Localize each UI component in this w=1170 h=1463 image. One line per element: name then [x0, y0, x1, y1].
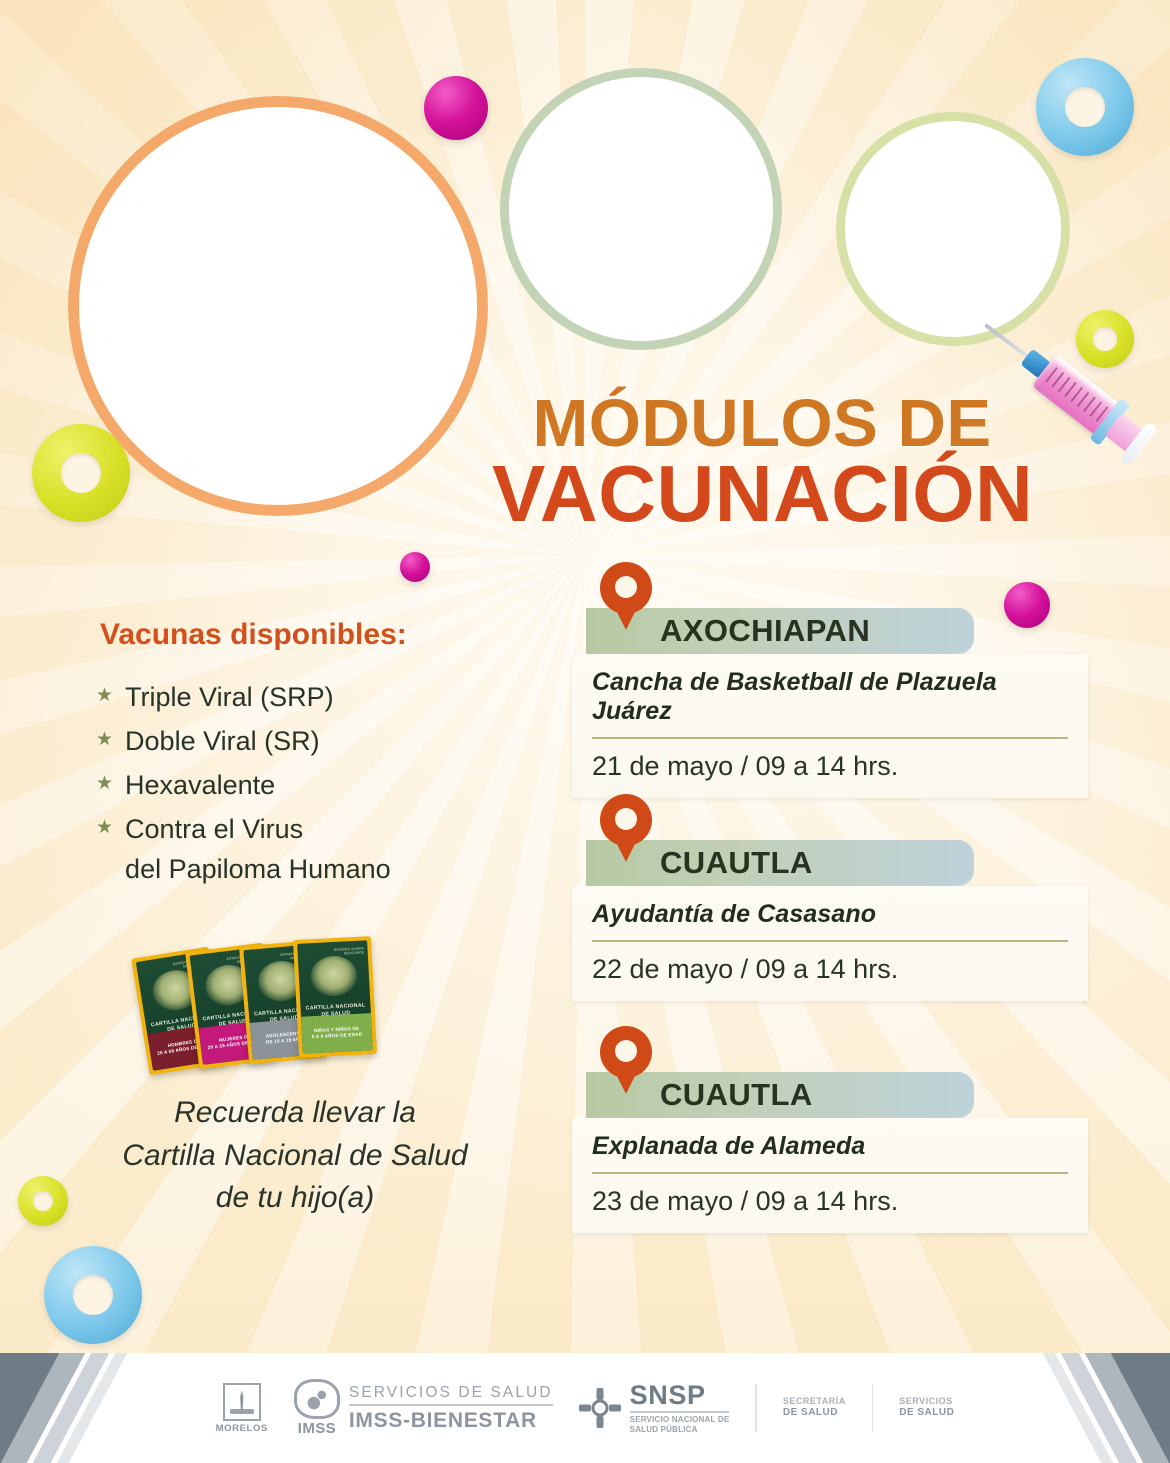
location-header: CUAUTLA [586, 1072, 974, 1118]
location-header: CUAUTLA [586, 840, 974, 886]
photo-infant-ring [68, 96, 488, 516]
map-pin-icon [600, 794, 652, 870]
snsp-line-1: SNSP [630, 1381, 730, 1409]
footer-separator [755, 1384, 757, 1432]
location-date: 22 de mayo / 09 a 14 hrs. [592, 954, 1068, 985]
vaccine-item-label: Triple Viral (SRP) [125, 678, 334, 718]
imss-line-2: IMSS-BIENESTAR [349, 1409, 553, 1433]
vaccine-list: ★Triple Viral (SRP)★Doble Viral (SR)★Hex… [96, 678, 496, 894]
vaccine-item-label: Doble Viral (SR) [125, 722, 320, 762]
cartilla-card: ESTADOS UNIDOSMEXICANOSCARTILLA NACIONAL… [293, 936, 377, 1058]
magenta-sphere-mid [400, 552, 430, 582]
photo-boy-vaccination [500, 68, 782, 350]
imss-line-1: SERVICIOS DE SALUD [349, 1384, 553, 1401]
photo-nurse-vial [836, 112, 1070, 346]
star-bullet-icon: ★ [96, 810, 113, 846]
map-pin-icon [600, 1026, 652, 1102]
snsp-line-2: SERVICIO NACIONAL DESALUD PÚBLICA [630, 1415, 730, 1435]
cartilla-card-group: ESTADOS UNIDOSMEXICANOSCARTILLA NACIONAL… [140, 938, 440, 1068]
morelos-logo: MORELOS [216, 1383, 268, 1434]
servicios-line-2: DE SALUD [899, 1407, 954, 1420]
location-card: CUAUTLA Explanada de Alameda 23 de mayo … [572, 1072, 1088, 1233]
vaccine-item: ★Triple Viral (SRP) [96, 678, 496, 718]
secretaria-line-2: DE SALUD [783, 1407, 846, 1420]
vaccine-item-label: Contra el Virusdel Papiloma Humano [125, 810, 391, 890]
reminder-text: Recuerda llevar laCartilla Nacional de S… [60, 1092, 530, 1220]
title-line-2: VACUNACIÓN [492, 456, 1032, 533]
vaccine-item-label: Hexavalente [125, 766, 275, 806]
footer-separator [872, 1384, 874, 1432]
secretaria-de-salud-label: SECRETARÍA DE SALUD [783, 1396, 846, 1420]
location-city: CUAUTLA [660, 845, 813, 881]
location-body: Explanada de Alameda 23 de mayo / 09 a 1… [572, 1118, 1088, 1233]
imss-rule [349, 1404, 553, 1406]
blue-donut-bottom-left [44, 1246, 142, 1344]
secretaria-line-1: SECRETARÍA [783, 1396, 846, 1407]
footer-logo-bar: MORELOS IMSS SERVICIOS DE SALUD IMSS-BIE… [0, 1353, 1170, 1463]
coat-of-arms-icon [310, 955, 358, 997]
location-city: AXOCHIAPAN [660, 613, 870, 649]
star-bullet-icon: ★ [96, 766, 113, 802]
location-date: 23 de mayo / 09 a 14 hrs. [592, 1186, 1068, 1217]
imss-mark-icon [294, 1379, 340, 1419]
location-city: CUAUTLA [660, 1077, 813, 1113]
snsp-mark-icon [579, 1388, 621, 1428]
location-venue: Ayudantía de Casasano [592, 900, 1068, 929]
photo-infant-vaccination [68, 96, 488, 516]
vaccines-heading: Vacunas disponibles: [100, 618, 407, 652]
title-line-1: MÓDULOS DE [492, 392, 1032, 456]
location-body: Cancha de Basketball de Plazuela Juárez … [572, 654, 1088, 798]
vaccine-item: ★Hexavalente [96, 766, 496, 806]
photo-nurse-ring [836, 112, 1070, 346]
vaccine-item: ★Contra el Virusdel Papiloma Humano [96, 810, 496, 890]
poster-root: MÓDULOS DE VACUNACIÓN Vacunas disponible… [0, 0, 1170, 1463]
star-bullet-icon: ★ [96, 722, 113, 758]
morelos-label: MORELOS [216, 1423, 268, 1434]
star-bullet-icon: ★ [96, 678, 113, 714]
location-divider [592, 1172, 1068, 1174]
location-divider [592, 940, 1068, 942]
location-divider [592, 737, 1068, 739]
servicios-line-1: SERVICIOS [899, 1396, 954, 1407]
location-card: AXOCHIAPAN Cancha de Basketball de Plazu… [572, 608, 1088, 798]
imss-bienestar-logo: IMSS SERVICIOS DE SALUD IMSS-BIENESTAR [294, 1379, 553, 1437]
map-pin-icon [600, 562, 652, 638]
snsp-rule [630, 1411, 730, 1413]
page-title: MÓDULOS DE VACUNACIÓN [492, 392, 1032, 533]
location-date: 21 de mayo / 09 a 14 hrs. [592, 751, 1068, 782]
photo-boy-ring [500, 68, 782, 350]
location-header: AXOCHIAPAN [586, 608, 974, 654]
location-venue: Cancha de Basketball de Plazuela Juárez [592, 668, 1068, 726]
servicios-de-salud-label: SERVICIOS DE SALUD [899, 1396, 954, 1420]
snsp-logo: SNSP SERVICIO NACIONAL DESALUD PÚBLICA [579, 1381, 730, 1435]
morelos-seal-icon [223, 1383, 261, 1421]
vaccine-item: ★Doble Viral (SR) [96, 722, 496, 762]
imss-label: IMSS [294, 1420, 340, 1437]
cartilla-band: NIÑAS Y NIÑOS DE0 A 9 AÑOS DE EDAD [301, 1013, 373, 1054]
location-venue: Explanada de Alameda [592, 1132, 1068, 1161]
location-body: Ayudantía de Casasano 22 de mayo / 09 a … [572, 886, 1088, 1001]
cartilla-mini-text: ESTADOS UNIDOSMEXICANOS [334, 946, 364, 956]
location-card: CUAUTLA Ayudantía de Casasano 22 de mayo… [572, 840, 1088, 1001]
